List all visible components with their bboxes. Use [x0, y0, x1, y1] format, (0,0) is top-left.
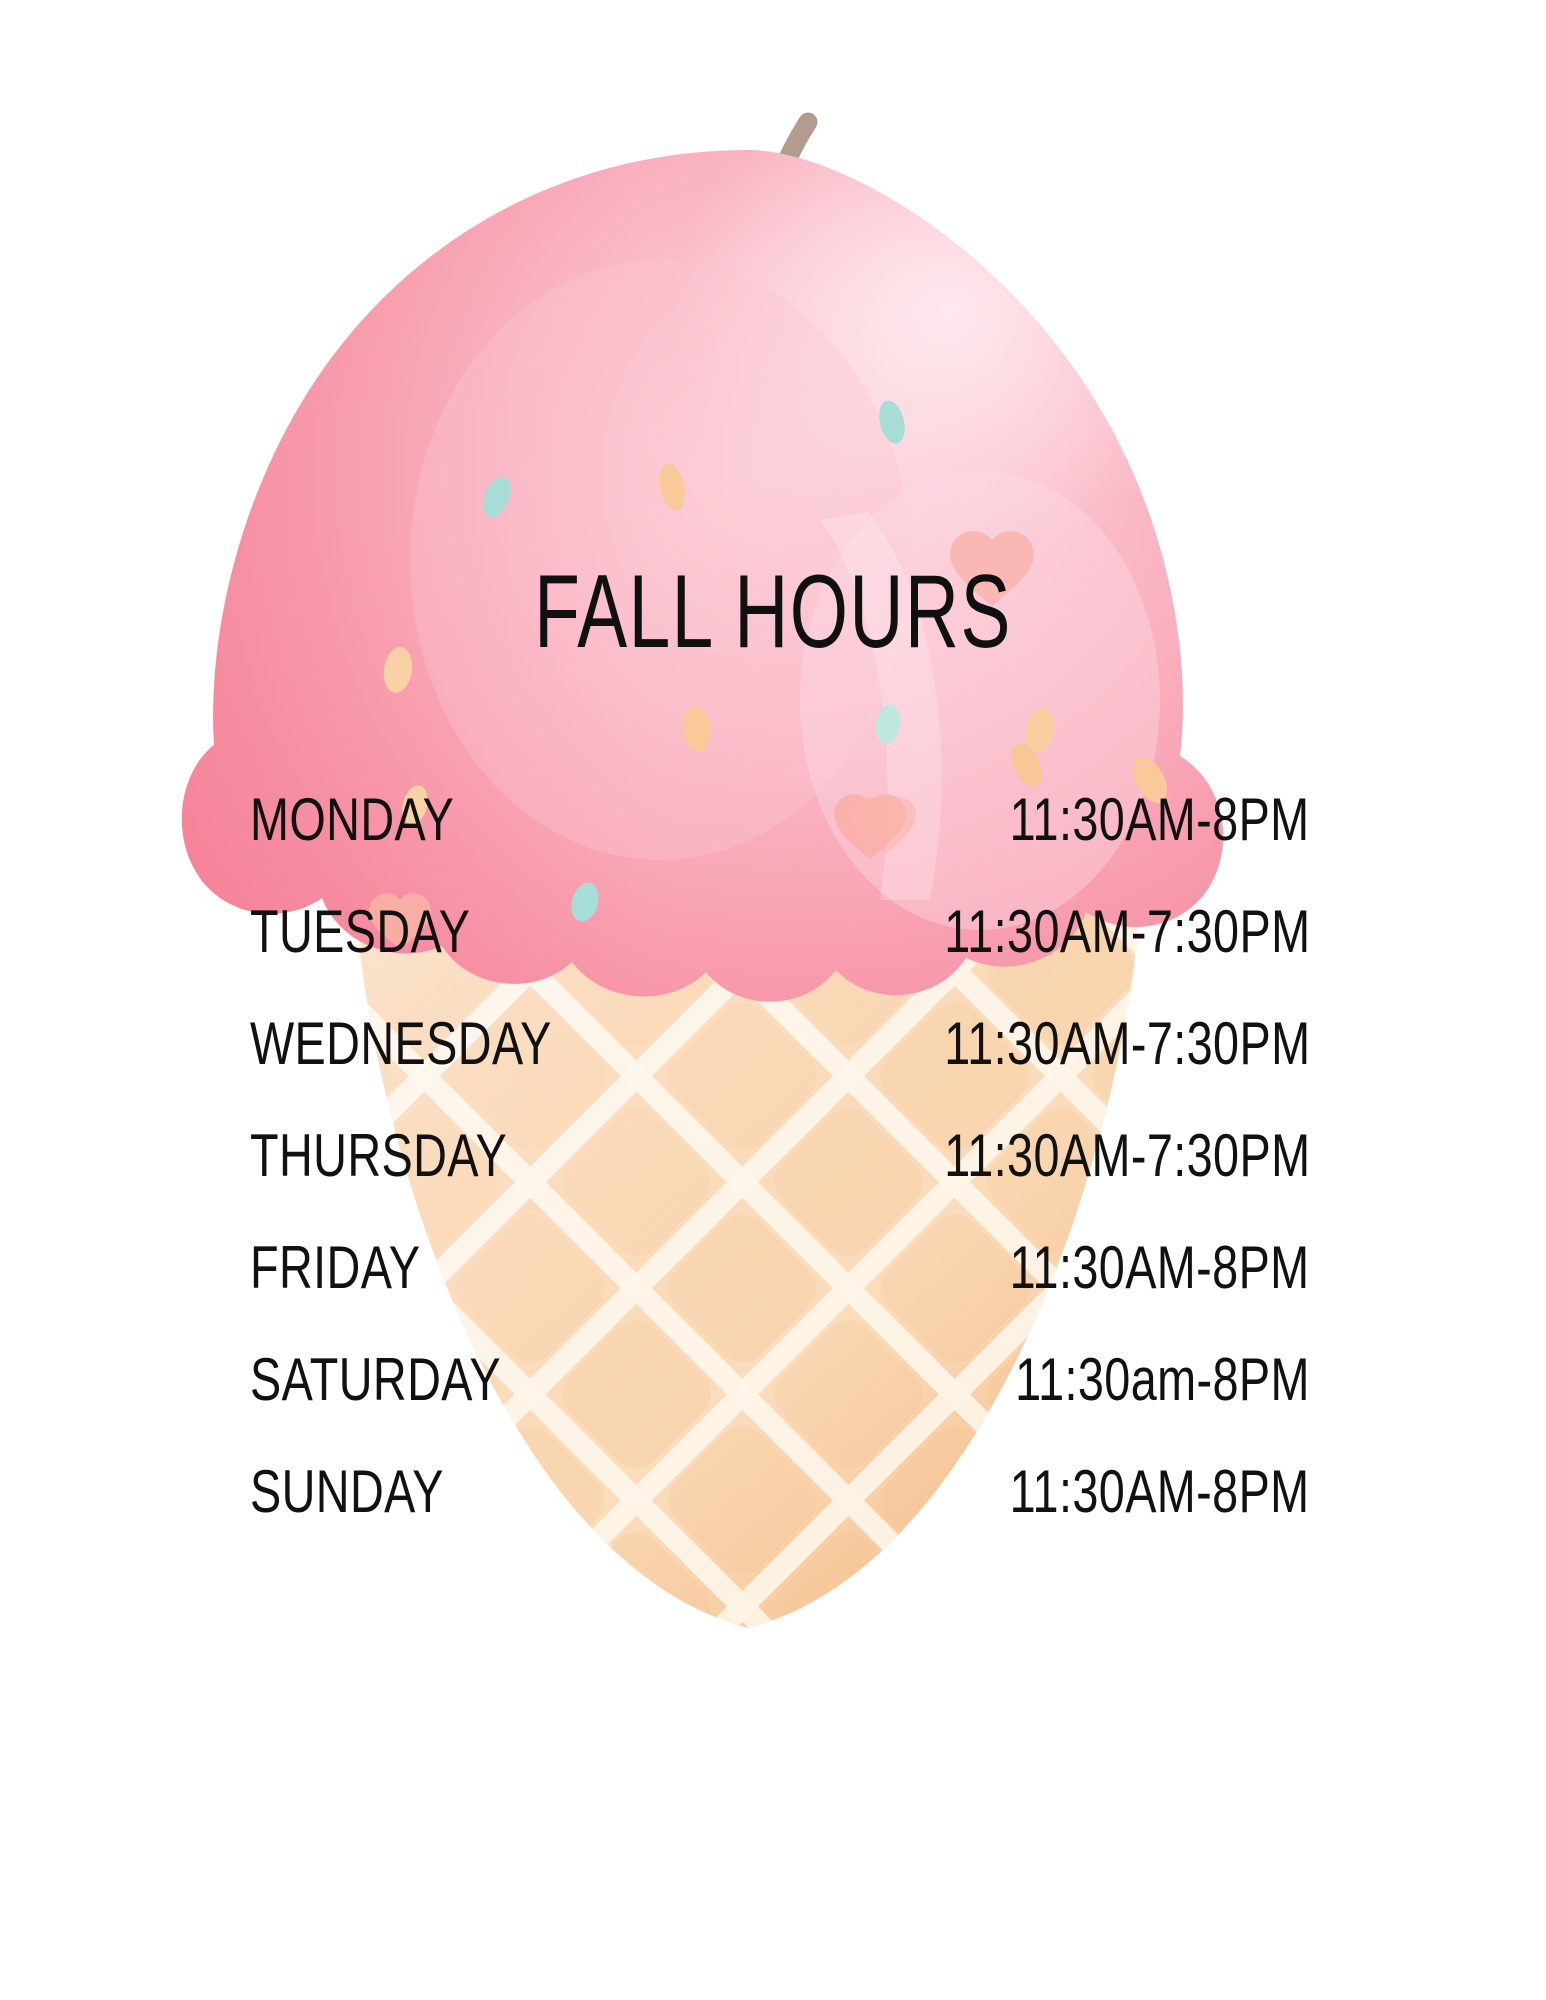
time-value-monday: 11:30AM-8PM	[1010, 790, 1310, 850]
time-value-wednesday: 11:30AM-7:30PM	[944, 1014, 1310, 1074]
day-label-saturday: SATURDAY	[250, 1350, 501, 1410]
table-row: FRIDAY 11:30AM-8PM	[250, 1238, 1310, 1350]
table-row: MONDAY 11:30AM-8PM	[250, 790, 1310, 902]
day-label-friday: FRIDAY	[250, 1238, 420, 1298]
time-value-friday: 11:30AM-8PM	[1010, 1238, 1310, 1298]
table-row: WEDNESDAY 11:30AM-7:30PM	[250, 1014, 1310, 1126]
table-row: SATURDAY 11:30am-8PM	[250, 1350, 1310, 1462]
time-value-thursday: 11:30AM-7:30PM	[944, 1126, 1310, 1186]
day-label-monday: MONDAY	[250, 790, 454, 850]
text-layer: FALL HOURS MONDAY 11:30AM-8PM TUESDAY 11…	[0, 0, 1546, 2000]
time-value-sunday: 11:30AM-8PM	[1010, 1462, 1310, 1522]
table-row: THURSDAY 11:30AM-7:30PM	[250, 1126, 1310, 1238]
day-label-tuesday: TUESDAY	[250, 902, 470, 962]
fall-hours-poster: FALL HOURS MONDAY 11:30AM-8PM TUESDAY 11…	[0, 0, 1546, 2000]
hours-table: MONDAY 11:30AM-8PM TUESDAY 11:30AM-7:30P…	[250, 790, 1310, 1574]
day-label-thursday: THURSDAY	[250, 1126, 507, 1186]
page-title: FALL HOURS	[216, 560, 1329, 664]
day-label-wednesday: WEDNESDAY	[250, 1014, 552, 1074]
table-row: SUNDAY 11:30AM-8PM	[250, 1462, 1310, 1574]
day-label-sunday: SUNDAY	[250, 1462, 444, 1522]
time-value-saturday: 11:30am-8PM	[1015, 1350, 1310, 1410]
time-value-tuesday: 11:30AM-7:30PM	[944, 902, 1310, 962]
table-row: TUESDAY 11:30AM-7:30PM	[250, 902, 1310, 1014]
